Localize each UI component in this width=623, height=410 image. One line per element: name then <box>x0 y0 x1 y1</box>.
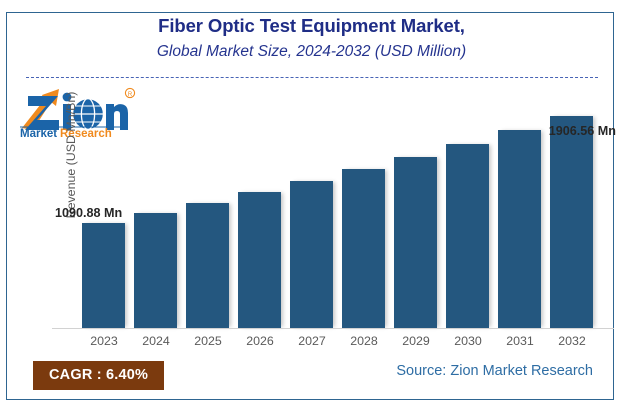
x-tick-2032: 2032 <box>546 334 598 348</box>
x-tick-2025: 2025 <box>182 334 234 348</box>
bar-2024 <box>134 213 177 328</box>
bar-slot <box>442 100 494 328</box>
bar-slot <box>494 100 546 328</box>
x-tick-2023: 2023 <box>78 334 130 348</box>
x-tick-2029: 2029 <box>390 334 442 348</box>
plot-area: Revenue (USD Mn/Bn) 1090.88 Mn 1906.56 M… <box>52 100 612 328</box>
bar-2025 <box>186 203 229 328</box>
bar-slot <box>234 100 286 328</box>
chart-subtitle: Global Market Size, 2024-2032 (USD Milli… <box>0 40 623 63</box>
dashed-divider <box>26 77 598 78</box>
svg-text:R: R <box>128 92 133 98</box>
x-axis-baseline <box>52 328 614 329</box>
bar-value-label-2032: 1906.56 Mn <box>549 124 616 138</box>
market-size-bar-chart: Fiber Optic Test Equipment Market, Globa… <box>0 0 623 410</box>
bar-slot <box>338 100 390 328</box>
bar-2023 <box>82 223 125 328</box>
bar-slot <box>390 100 442 328</box>
cagr-badge: CAGR : 6.40% <box>33 361 164 390</box>
bar-series <box>78 100 612 328</box>
bar-slot <box>182 100 234 328</box>
bar-2026 <box>238 192 281 328</box>
title-block: Fiber Optic Test Equipment Market, Globa… <box>0 14 623 63</box>
x-tick-2026: 2026 <box>234 334 286 348</box>
x-tick-2024: 2024 <box>130 334 182 348</box>
bar-2027 <box>290 181 333 328</box>
x-tick-2030: 2030 <box>442 334 494 348</box>
bar-value-label-2023: 1090.88 Mn <box>55 206 122 220</box>
bar-slot <box>286 100 338 328</box>
x-tick-2027: 2027 <box>286 334 338 348</box>
bar-2031 <box>498 130 541 328</box>
x-tick-2028: 2028 <box>338 334 390 348</box>
x-axis-tick-labels: 2023202420252026202720282029203020312032 <box>78 334 612 352</box>
chart-title: Fiber Optic Test Equipment Market, <box>0 14 623 39</box>
bar-2029 <box>394 157 437 328</box>
x-tick-2031: 2031 <box>494 334 546 348</box>
bar-2030 <box>446 144 489 328</box>
bar-slot <box>130 100 182 328</box>
bar-2028 <box>342 169 385 328</box>
bar-2032 <box>550 116 593 328</box>
source-note: Source: Zion Market Research <box>396 363 593 379</box>
